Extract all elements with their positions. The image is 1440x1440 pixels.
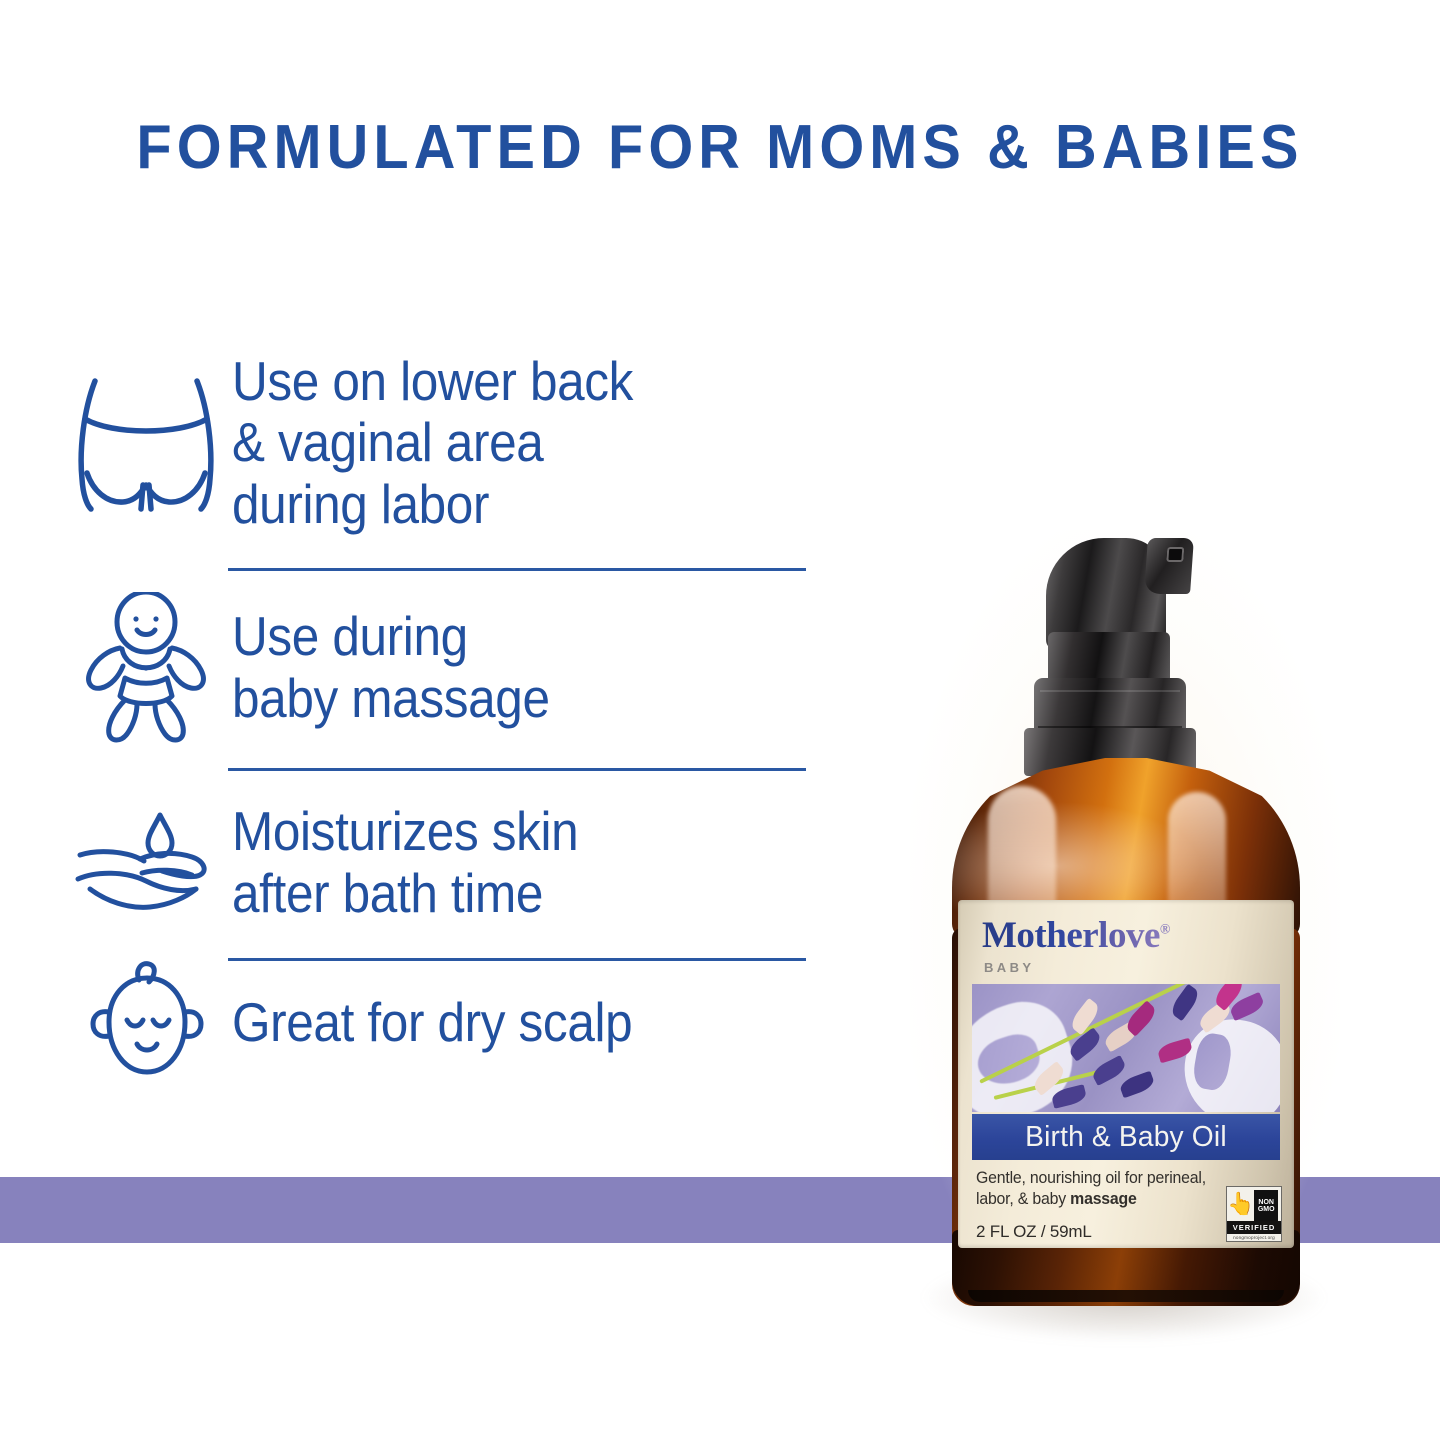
cert-line-2: GMO [1258,1206,1275,1213]
benefit-text: Great for dry scalp [232,992,632,1054]
amber-glass-bottle: Motherlove® BABY [952,758,1300,1306]
tagline-emphasis: massage [1070,1190,1136,1208]
product-name: Birth & Baby Oil [1025,1121,1227,1154]
petal [1066,1027,1103,1061]
tagline-line-1: Gentle, nourishing oil for perineal, [976,1169,1206,1187]
benefit-text: Moisturizes skin after bath time [232,801,578,924]
benefit-text: Use on lower back & vaginal area during … [232,351,633,536]
benefit-row: Use on lower back & vaginal area during … [60,318,850,568]
product-name-band: Birth & Baby Oil [972,1114,1280,1160]
non-gmo-text: NON GMO [1254,1190,1278,1221]
lavender-illustration [972,984,1280,1112]
registered-mark-icon: ® [1160,923,1170,938]
verified-label: VERIFIED [1227,1221,1281,1234]
petal [1090,1055,1128,1086]
page-title: FORMULATED FOR MOMS & BABIES [50,112,1389,183]
hips-underwear-icon [60,363,232,523]
benefit-row: Moisturizes skin after bath time [60,768,850,958]
benefits-list: Use on lower back & vaginal area during … [60,318,850,1088]
baby-body-icon [60,592,232,744]
hand-silhouette-right-icon [1176,1012,1280,1112]
bottle-rim [968,1290,1284,1302]
pump-dispenser-icon [1018,528,1218,778]
hand-droplet-icon [60,803,232,923]
baby-face-icon [60,960,232,1086]
brand-logo: Motherlove® [982,914,1170,957]
product-tagline: Gentle, nourishing oil for perineal,labo… [976,1168,1245,1211]
petal [1118,1071,1156,1099]
pump-nozzle [1144,538,1194,594]
pump-neck [1048,632,1170,684]
product-label: Motherlove® BABY [958,900,1294,1248]
cert-line-1: NON [1258,1199,1274,1206]
cert-url: nongmoproject.org [1233,1234,1275,1240]
brand-name: Motherlove [982,915,1160,956]
product-infographic: FORMULATED FOR MOMS & BABIES Use on lowe… [0,0,1440,1440]
benefit-row: Use during baby massage [60,568,850,768]
product-image: Motherlove® BABY [900,510,1360,1380]
butterfly-icon: 👆 [1227,1187,1254,1221]
net-volume: 2 FL OZ / 59mL [976,1222,1092,1242]
tagline-line-2: labor, & baby [976,1190,1070,1208]
petal [1068,998,1102,1035]
sub-brand-label: BABY [984,960,1034,975]
benefit-row: Great for dry scalp [60,958,850,1088]
benefit-text: Use during baby massage [232,606,550,729]
non-gmo-verified-badge-icon: 👆 NON GMO VERIFIED nongmoproject.org [1226,1186,1282,1242]
